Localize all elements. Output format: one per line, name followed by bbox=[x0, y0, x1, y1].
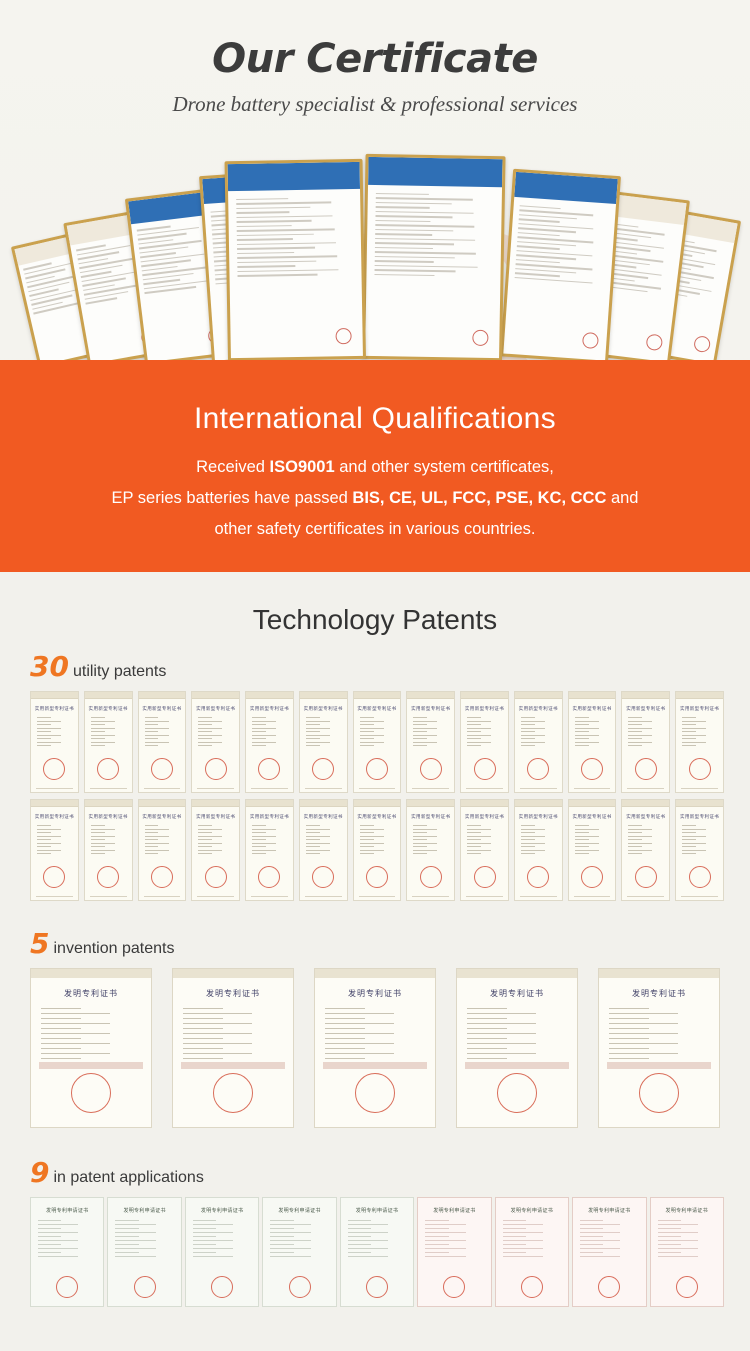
utility-patent-card[interactable]: 实用新型专利证书 bbox=[514, 799, 563, 901]
patent-card-footer bbox=[144, 788, 181, 789]
patent-card-band bbox=[181, 1062, 285, 1069]
patent-card-footer bbox=[359, 788, 396, 789]
patent-card-lines bbox=[145, 717, 180, 746]
patent-card-band bbox=[39, 1062, 143, 1069]
patent-card-topbar bbox=[461, 692, 508, 699]
patent-card-lines bbox=[38, 1220, 96, 1257]
utility-patent-card[interactable]: 实用新型专利证书 bbox=[299, 691, 348, 793]
patents-heading: Technology Patents bbox=[0, 572, 750, 636]
patent-card-band bbox=[323, 1062, 427, 1069]
patent-card-lines bbox=[348, 1220, 406, 1257]
patent-card-title: 实用新型专利证书 bbox=[300, 706, 347, 712]
utility-patent-card[interactable]: 实用新型专利证书 bbox=[245, 691, 294, 793]
utility-patent-card[interactable]: 实用新型专利证书 bbox=[460, 691, 509, 793]
red-seal-icon bbox=[689, 866, 711, 888]
patent-card-title: 实用新型专利证书 bbox=[676, 706, 723, 712]
patent-card-lines bbox=[413, 717, 448, 746]
patents-section: Technology Patents 30utility patents实用新型… bbox=[0, 572, 750, 1351]
red-seal-icon bbox=[289, 1276, 311, 1298]
patent-card-title: 实用新型专利证书 bbox=[192, 814, 239, 820]
patent-group-label: 5invention patents bbox=[30, 927, 750, 960]
patent-group: 30utility patents实用新型专利证书实用新型专利证书实用新型专利证… bbox=[0, 650, 750, 901]
utility-patent-card[interactable]: 实用新型专利证书 bbox=[514, 691, 563, 793]
patent-card-lines bbox=[183, 1008, 283, 1064]
patent-card-footer bbox=[520, 788, 557, 789]
patent-card-topbar bbox=[599, 969, 719, 978]
red-seal-icon bbox=[581, 866, 603, 888]
patent-count: 5 bbox=[30, 927, 49, 960]
patent-card-lines bbox=[658, 1220, 716, 1257]
red-seal-icon bbox=[97, 866, 119, 888]
patent-card-topbar bbox=[622, 800, 669, 807]
red-seal-icon bbox=[635, 866, 657, 888]
patent-card-footer bbox=[466, 896, 503, 897]
application-patent-card[interactable]: 发明专利申请证书 bbox=[495, 1197, 569, 1307]
patent-row: 发明专利申请证书发明专利申请证书发明专利申请证书发明专利申请证书发明专利申请证书… bbox=[0, 1197, 750, 1307]
red-seal-icon bbox=[312, 758, 334, 780]
application-patent-card[interactable]: 发明专利申请证书 bbox=[107, 1197, 181, 1307]
patent-card-title: 发明专利申请证书 bbox=[108, 1207, 180, 1214]
band-line2-bold: BIS, CE, UL, FCC, PSE, KC, CCC bbox=[352, 489, 606, 507]
patent-card-topbar bbox=[569, 692, 616, 699]
patent-count: 30 bbox=[30, 650, 69, 683]
application-patent-card[interactable]: 发明专利申请证书 bbox=[30, 1197, 104, 1307]
patent-card-footer bbox=[144, 896, 181, 897]
patent-card-topbar bbox=[246, 800, 293, 807]
patent-card-topbar bbox=[622, 692, 669, 699]
patent-card-topbar bbox=[407, 692, 454, 699]
invention-patent-card[interactable]: 发明专利证书 bbox=[314, 968, 436, 1128]
utility-patent-card[interactable]: 实用新型专利证书 bbox=[406, 691, 455, 793]
patent-card-band bbox=[465, 1062, 569, 1069]
patent-card-topbar bbox=[676, 800, 723, 807]
patent-card-lines bbox=[41, 1008, 141, 1064]
utility-patent-card[interactable]: 实用新型专利证书 bbox=[30, 799, 79, 901]
patent-card-lines bbox=[198, 717, 233, 746]
red-seal-icon bbox=[443, 1276, 465, 1298]
patent-row: 实用新型专利证书实用新型专利证书实用新型专利证书实用新型专利证书实用新型专利证书… bbox=[0, 691, 750, 793]
patent-card-topbar bbox=[85, 800, 132, 807]
patent-card-title: 实用新型专利证书 bbox=[676, 814, 723, 820]
patent-card-topbar bbox=[515, 692, 562, 699]
red-seal-icon bbox=[151, 866, 173, 888]
patent-type-label: invention patents bbox=[53, 940, 174, 957]
red-seal-icon bbox=[598, 1276, 620, 1298]
patent-card-footer bbox=[90, 788, 127, 789]
patent-group-label: 30utility patents bbox=[30, 650, 750, 683]
certificate-thumb bbox=[500, 169, 621, 364]
band-line2-post: and bbox=[606, 489, 638, 507]
red-seal-icon bbox=[689, 758, 711, 780]
certificate-fan bbox=[0, 150, 750, 360]
band-line2-pre: EP series batteries have passed bbox=[112, 489, 353, 507]
patent-card-title: 实用新型专利证书 bbox=[569, 814, 616, 820]
patent-card-footer bbox=[197, 788, 234, 789]
patent-card-lines bbox=[198, 825, 233, 854]
invention-patent-card[interactable]: 发明专利证书 bbox=[172, 968, 294, 1128]
red-seal-icon bbox=[151, 758, 173, 780]
patent-card-lines bbox=[425, 1220, 483, 1257]
patent-card-footer bbox=[359, 896, 396, 897]
red-seal-icon bbox=[71, 1073, 111, 1113]
utility-patent-card[interactable]: 实用新型专利证书 bbox=[675, 691, 724, 793]
red-seal-icon bbox=[213, 1073, 253, 1113]
patent-card-footer bbox=[251, 788, 288, 789]
red-seal-icon bbox=[355, 1073, 395, 1113]
patent-card-title: 实用新型专利证书 bbox=[622, 706, 669, 712]
patent-card-topbar bbox=[85, 692, 132, 699]
patent-card-title: 实用新型专利证书 bbox=[407, 706, 454, 712]
red-seal-icon bbox=[474, 758, 496, 780]
patent-card-topbar bbox=[300, 692, 347, 699]
patent-card-lines bbox=[306, 717, 341, 746]
patent-card-title: 实用新型专利证书 bbox=[85, 814, 132, 820]
patent-card-lines bbox=[115, 1220, 173, 1257]
patent-card-footer bbox=[412, 896, 449, 897]
patent-card-lines bbox=[628, 825, 663, 854]
red-seal-icon bbox=[676, 1276, 698, 1298]
utility-patent-card[interactable]: 实用新型专利证书 bbox=[568, 691, 617, 793]
band-paragraph: Received ISO9001 and other system certif… bbox=[0, 436, 750, 545]
patent-card-footer bbox=[681, 896, 718, 897]
patent-group: 5invention patents发明专利证书发明专利证书发明专利证书发明专利… bbox=[0, 927, 750, 1128]
patent-card-footer bbox=[627, 896, 664, 897]
patent-card-topbar bbox=[569, 800, 616, 807]
patent-card-lines bbox=[91, 825, 126, 854]
patent-card-lines bbox=[37, 717, 72, 746]
patent-card-title: 实用新型专利证书 bbox=[246, 814, 293, 820]
patent-card-lines bbox=[145, 825, 180, 854]
band-heading: International Qualifications bbox=[0, 360, 750, 436]
patent-card-lines bbox=[467, 717, 502, 746]
patent-card-topbar bbox=[31, 969, 151, 978]
patent-card-title: 发明专利申请证书 bbox=[263, 1207, 335, 1214]
patent-card-title: 实用新型专利证书 bbox=[246, 706, 293, 712]
patent-row: 实用新型专利证书实用新型专利证书实用新型专利证书实用新型专利证书实用新型专利证书… bbox=[0, 799, 750, 901]
band-line1-bold: ISO9001 bbox=[270, 458, 335, 476]
patent-card-topbar bbox=[457, 969, 577, 978]
red-seal-icon bbox=[639, 1073, 679, 1113]
patent-card-title: 实用新型专利证书 bbox=[85, 706, 132, 712]
patent-card-footer bbox=[574, 896, 611, 897]
patent-card-footer bbox=[412, 788, 449, 789]
patent-card-title: 实用新型专利证书 bbox=[569, 706, 616, 712]
patent-card-lines bbox=[609, 1008, 709, 1064]
application-patent-card[interactable]: 发明专利申请证书 bbox=[262, 1197, 336, 1307]
page-subtitle: Drone battery specialist & professional … bbox=[0, 92, 750, 117]
patent-card-title: 发明专利申请证书 bbox=[418, 1207, 490, 1214]
patent-card-topbar bbox=[407, 800, 454, 807]
patent-card-topbar bbox=[461, 800, 508, 807]
red-seal-icon bbox=[527, 866, 549, 888]
red-seal-icon bbox=[420, 758, 442, 780]
patent-card-lines bbox=[252, 717, 287, 746]
patent-card-topbar bbox=[192, 692, 239, 699]
patent-card-lines bbox=[575, 825, 610, 854]
invention-patent-card[interactable]: 发明专利证书 bbox=[30, 968, 152, 1128]
utility-patent-card[interactable]: 实用新型专利证书 bbox=[568, 799, 617, 901]
application-patent-card[interactable]: 发明专利申请证书 bbox=[572, 1197, 646, 1307]
patent-card-lines bbox=[521, 717, 556, 746]
red-seal-icon bbox=[420, 866, 442, 888]
patent-card-topbar bbox=[173, 969, 293, 978]
red-seal-icon bbox=[474, 866, 496, 888]
red-seal-icon bbox=[43, 758, 65, 780]
patent-card-lines bbox=[91, 717, 126, 746]
patent-card-lines bbox=[37, 825, 72, 854]
patent-card-topbar bbox=[515, 800, 562, 807]
patent-card-title: 发明专利申请证书 bbox=[651, 1207, 723, 1214]
red-seal-icon bbox=[205, 866, 227, 888]
patent-card-title: 实用新型专利证书 bbox=[139, 814, 186, 820]
patent-card-lines bbox=[467, 825, 502, 854]
patent-card-footer bbox=[305, 896, 342, 897]
patent-card-title: 实用新型专利证书 bbox=[192, 706, 239, 712]
utility-patent-card[interactable]: 实用新型专利证书 bbox=[84, 799, 133, 901]
red-seal-icon bbox=[134, 1276, 156, 1298]
certificate-thumb bbox=[225, 159, 366, 361]
utility-patent-card[interactable]: 实用新型专利证书 bbox=[138, 799, 187, 901]
patent-card-topbar bbox=[300, 800, 347, 807]
patent-card-topbar bbox=[139, 800, 186, 807]
patent-card-title: 发明专利证书 bbox=[173, 988, 293, 999]
application-patent-card[interactable]: 发明专利申请证书 bbox=[185, 1197, 259, 1307]
red-seal-icon bbox=[43, 866, 65, 888]
red-seal-icon bbox=[527, 758, 549, 780]
patent-card-title: 实用新型专利证书 bbox=[300, 814, 347, 820]
patent-type-label: in patent applications bbox=[53, 1169, 203, 1186]
patent-card-topbar bbox=[354, 800, 401, 807]
red-seal-icon bbox=[366, 1276, 388, 1298]
patent-card-footer bbox=[36, 896, 73, 897]
patent-card-footer bbox=[36, 788, 73, 789]
invention-patent-card[interactable]: 发明专利证书 bbox=[598, 968, 720, 1128]
patent-card-title: 实用新型专利证书 bbox=[515, 814, 562, 820]
utility-patent-card[interactable]: 实用新型专利证书 bbox=[621, 799, 670, 901]
patent-card-title: 发明专利申请证书 bbox=[186, 1207, 258, 1214]
patent-card-title: 实用新型专利证书 bbox=[354, 814, 401, 820]
utility-patent-card[interactable]: 实用新型专利证书 bbox=[675, 799, 724, 901]
patent-card-title: 发明专利证书 bbox=[457, 988, 577, 999]
application-patent-card[interactable]: 发明专利申请证书 bbox=[417, 1197, 491, 1307]
patent-card-footer bbox=[90, 896, 127, 897]
red-seal-icon bbox=[258, 758, 280, 780]
certificate-thumb bbox=[362, 154, 506, 361]
red-seal-icon bbox=[635, 758, 657, 780]
utility-patent-card[interactable]: 实用新型专利证书 bbox=[460, 799, 509, 901]
patent-card-lines bbox=[306, 825, 341, 854]
patent-type-label: utility patents bbox=[73, 663, 166, 680]
patent-card-title: 实用新型专利证书 bbox=[461, 814, 508, 820]
patent-card-topbar bbox=[139, 692, 186, 699]
patent-card-footer bbox=[305, 788, 342, 789]
patent-group: 9in patent applications发明专利申请证书发明专利申请证书发… bbox=[0, 1156, 750, 1307]
patent-card-lines bbox=[193, 1220, 251, 1257]
patent-card-lines bbox=[503, 1220, 561, 1257]
patent-groups: 30utility patents实用新型专利证书实用新型专利证书实用新型专利证… bbox=[0, 650, 750, 1307]
red-seal-icon bbox=[581, 758, 603, 780]
patent-card-title: 实用新型专利证书 bbox=[407, 814, 454, 820]
patent-card-lines bbox=[252, 825, 287, 854]
patent-card-topbar bbox=[315, 969, 435, 978]
patent-card-lines bbox=[682, 825, 717, 854]
patent-card-lines bbox=[682, 717, 717, 746]
band-line1-pre: Received bbox=[196, 458, 269, 476]
utility-patent-card[interactable]: 实用新型专利证书 bbox=[299, 799, 348, 901]
patent-card-title: 实用新型专利证书 bbox=[31, 706, 78, 712]
patent-card-topbar bbox=[31, 692, 78, 699]
patent-card-lines bbox=[467, 1008, 567, 1064]
red-seal-icon bbox=[205, 758, 227, 780]
utility-patent-card[interactable]: 实用新型专利证书 bbox=[406, 799, 455, 901]
utility-patent-card[interactable]: 实用新型专利证书 bbox=[191, 691, 240, 793]
patent-group-label: 9in patent applications bbox=[30, 1156, 750, 1189]
qualifications-band: International Qualifications Received IS… bbox=[0, 360, 750, 572]
patent-card-lines bbox=[628, 717, 663, 746]
patent-card-topbar bbox=[246, 692, 293, 699]
patent-card-lines bbox=[575, 717, 610, 746]
patent-card-footer bbox=[574, 788, 611, 789]
patent-card-lines bbox=[413, 825, 448, 854]
patent-card-title: 实用新型专利证书 bbox=[139, 706, 186, 712]
utility-patent-card[interactable]: 实用新型专利证书 bbox=[191, 799, 240, 901]
patent-count: 9 bbox=[30, 1156, 49, 1189]
patent-card-footer bbox=[197, 896, 234, 897]
patent-card-title: 实用新型专利证书 bbox=[515, 706, 562, 712]
page-title: Our Certificate bbox=[0, 0, 750, 82]
patent-card-footer bbox=[466, 788, 503, 789]
utility-patent-card[interactable]: 实用新型专利证书 bbox=[353, 691, 402, 793]
patent-card-topbar bbox=[192, 800, 239, 807]
application-patent-card[interactable]: 发明专利申请证书 bbox=[650, 1197, 724, 1307]
red-seal-icon bbox=[521, 1276, 543, 1298]
patent-card-lines bbox=[580, 1220, 638, 1257]
patent-card-lines bbox=[270, 1220, 328, 1257]
invention-patent-card[interactable]: 发明专利证书 bbox=[456, 968, 578, 1128]
patent-card-title: 发明专利申请证书 bbox=[496, 1207, 568, 1214]
patent-card-title: 发明专利申请证书 bbox=[341, 1207, 413, 1214]
patent-card-footer bbox=[627, 788, 664, 789]
patent-card-lines bbox=[325, 1008, 425, 1064]
patent-card-footer bbox=[681, 788, 718, 789]
band-line3: other safety certificates in various cou… bbox=[215, 520, 536, 538]
patent-row: 发明专利证书发明专利证书发明专利证书发明专利证书发明专利证书 bbox=[0, 968, 750, 1128]
patent-card-lines bbox=[521, 825, 556, 854]
patent-card-title: 实用新型专利证书 bbox=[461, 706, 508, 712]
red-seal-icon bbox=[366, 866, 388, 888]
red-seal-icon bbox=[497, 1073, 537, 1113]
utility-patent-card[interactable]: 实用新型专利证书 bbox=[245, 799, 294, 901]
utility-patent-card[interactable]: 实用新型专利证书 bbox=[84, 691, 133, 793]
patent-card-lines bbox=[360, 717, 395, 746]
patent-card-title: 实用新型专利证书 bbox=[622, 814, 669, 820]
patent-card-topbar bbox=[31, 800, 78, 807]
patent-card-title: 发明专利申请证书 bbox=[31, 1207, 103, 1214]
application-patent-card[interactable]: 发明专利申请证书 bbox=[340, 1197, 414, 1307]
patent-card-title: 发明专利证书 bbox=[599, 988, 719, 999]
patent-card-title: 发明专利证书 bbox=[31, 988, 151, 999]
red-seal-icon bbox=[56, 1276, 78, 1298]
patent-card-topbar bbox=[354, 692, 401, 699]
patent-card-title: 发明专利申请证书 bbox=[573, 1207, 645, 1214]
red-seal-icon bbox=[258, 866, 280, 888]
utility-patent-card[interactable]: 实用新型专利证书 bbox=[30, 691, 79, 793]
patent-card-band bbox=[607, 1062, 711, 1069]
patent-card-lines bbox=[360, 825, 395, 854]
band-line1-post: and other system certificates, bbox=[335, 458, 554, 476]
utility-patent-card[interactable]: 实用新型专利证书 bbox=[353, 799, 402, 901]
red-seal-icon bbox=[211, 1276, 233, 1298]
red-seal-icon bbox=[97, 758, 119, 780]
patent-card-title: 实用新型专利证书 bbox=[354, 706, 401, 712]
patent-card-topbar bbox=[676, 692, 723, 699]
red-seal-icon bbox=[312, 866, 334, 888]
utility-patent-card[interactable]: 实用新型专利证书 bbox=[621, 691, 670, 793]
patent-card-footer bbox=[520, 896, 557, 897]
patent-card-footer bbox=[251, 896, 288, 897]
patent-card-title: 实用新型专利证书 bbox=[31, 814, 78, 820]
red-seal-icon bbox=[366, 758, 388, 780]
utility-patent-card[interactable]: 实用新型专利证书 bbox=[138, 691, 187, 793]
patent-card-title: 发明专利证书 bbox=[315, 988, 435, 999]
